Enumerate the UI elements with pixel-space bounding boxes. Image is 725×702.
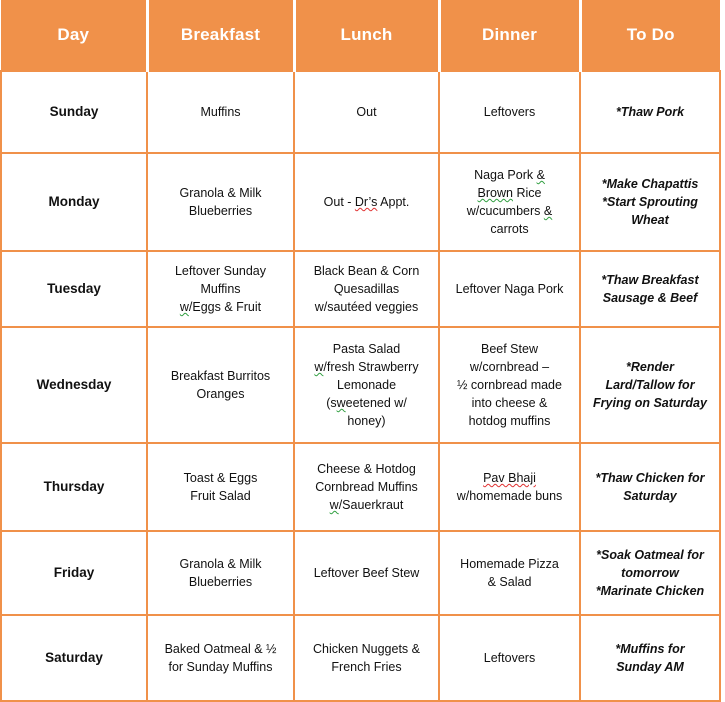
cell-text: Chicken Nuggets &French Fries bbox=[300, 640, 433, 676]
breakfast-cell: Granola & MilkBlueberries bbox=[147, 153, 294, 251]
cell-line: Blueberries bbox=[153, 573, 288, 591]
cell-text: Pav Bhajiw/homemade buns bbox=[445, 469, 574, 505]
todo-cell: *Thaw BreakfastSausage & Beef bbox=[580, 251, 720, 327]
spellcheck-underline: w bbox=[330, 498, 339, 512]
cell-line: Brown Rice bbox=[445, 184, 574, 202]
cell-text: Homemade Pizza& Salad bbox=[445, 555, 574, 591]
cell-text: *Thaw Chicken forSaturday bbox=[586, 469, 714, 505]
cell-line: Granola & Milk bbox=[153, 555, 288, 573]
cell-text: *RenderLard/Tallow forFrying on Saturday bbox=[586, 358, 714, 412]
day-cell-saturday: Saturday bbox=[1, 615, 147, 701]
dinner-cell: Leftovers bbox=[439, 71, 580, 153]
cell-line: Out bbox=[300, 103, 433, 121]
column-header-dinner: Dinner bbox=[439, 0, 580, 71]
cell-text: *Soak Oatmeal fortomorrow*Marinate Chick… bbox=[586, 546, 714, 600]
lunch-cell: Leftover Beef Stew bbox=[294, 531, 439, 615]
cell-line: Sausage & Beef bbox=[586, 289, 714, 307]
cell-line: Pasta Salad bbox=[300, 340, 433, 358]
table-row: WednesdayBreakfast BurritosOrangesPasta … bbox=[1, 327, 720, 443]
todo-cell: *Make Chapattis*Start SproutingWheat bbox=[580, 153, 720, 251]
cell-line: Quesadillas bbox=[300, 280, 433, 298]
cell-line: Leftover Beef Stew bbox=[300, 564, 433, 582]
lunch-cell: Black Bean & CornQuesadillasw/sautéed ve… bbox=[294, 251, 439, 327]
cell-line: honey) bbox=[300, 412, 433, 430]
cell-line: Black Bean & Corn bbox=[300, 262, 433, 280]
breakfast-cell: Toast & EggsFruit Salad bbox=[147, 443, 294, 531]
todo-cell: *Soak Oatmeal fortomorrow*Marinate Chick… bbox=[580, 531, 720, 615]
cell-line: *Soak Oatmeal for bbox=[586, 546, 714, 564]
cell-line: ½ cornbread made bbox=[445, 376, 574, 394]
cell-line: *Marinate Chicken bbox=[586, 582, 714, 600]
todo-cell: *Thaw Pork bbox=[580, 71, 720, 153]
cell-line: *Thaw Breakfast bbox=[586, 271, 714, 289]
cell-text: *Muffins forSunday AM bbox=[586, 640, 714, 676]
cell-line: Beef Stew bbox=[445, 340, 574, 358]
cell-line: w/Sauerkraut bbox=[300, 496, 433, 514]
cell-line: Leftovers bbox=[445, 649, 574, 667]
spellcheck-underline: Pav Bhaji bbox=[483, 471, 536, 485]
cell-line: *Start Sprouting bbox=[586, 193, 714, 211]
cell-line: Cheese & Hotdog bbox=[300, 460, 433, 478]
day-cell-friday: Friday bbox=[1, 531, 147, 615]
cell-text: Leftover SundayMuffinsw/Eggs & Fruit bbox=[153, 262, 288, 316]
cell-text: *Thaw Pork bbox=[586, 103, 714, 121]
cell-text: Breakfast BurritosOranges bbox=[153, 367, 288, 403]
meal-plan-table: DayBreakfastLunchDinnerTo Do SundayMuffi… bbox=[0, 0, 721, 702]
breakfast-cell: Granola & MilkBlueberries bbox=[147, 531, 294, 615]
spellcheck-underline: w bbox=[337, 396, 346, 410]
cell-line: into cheese & bbox=[445, 394, 574, 412]
cell-text: Baked Oatmeal & ½for Sunday Muffins bbox=[153, 640, 288, 676]
dinner-cell: Homemade Pizza& Salad bbox=[439, 531, 580, 615]
dinner-cell: Naga Pork &Brown Ricew/cucumbers &carrot… bbox=[439, 153, 580, 251]
table-header-row: DayBreakfastLunchDinnerTo Do bbox=[1, 0, 720, 71]
cell-line: Granola & Milk bbox=[153, 184, 288, 202]
cell-line: w/cornbread – bbox=[445, 358, 574, 376]
cell-line: Homemade Pizza bbox=[445, 555, 574, 573]
cell-line: Muffins bbox=[153, 280, 288, 298]
cell-line: Baked Oatmeal & ½ bbox=[153, 640, 288, 658]
todo-cell: *RenderLard/Tallow forFrying on Saturday bbox=[580, 327, 720, 443]
cell-line: Cornbread Muffins bbox=[300, 478, 433, 496]
cell-line: Sunday AM bbox=[586, 658, 714, 676]
cell-line: *Muffins for bbox=[586, 640, 714, 658]
cell-line: Fruit Salad bbox=[153, 487, 288, 505]
table-row: FridayGranola & MilkBlueberriesLeftover … bbox=[1, 531, 720, 615]
column-header-lunch: Lunch bbox=[294, 0, 439, 71]
cell-line: w/sautéed veggies bbox=[300, 298, 433, 316]
dinner-cell: Leftovers bbox=[439, 615, 580, 701]
cell-line: w/Eggs & Fruit bbox=[153, 298, 288, 316]
cell-text: *Thaw BreakfastSausage & Beef bbox=[586, 271, 714, 307]
dinner-cell: Beef Steww/cornbread –½ cornbread madein… bbox=[439, 327, 580, 443]
cell-text: Out - Dr’s Appt. bbox=[300, 193, 433, 211]
dinner-cell: Leftover Naga Pork bbox=[439, 251, 580, 327]
cell-line: Oranges bbox=[153, 385, 288, 403]
cell-line: tomorrow bbox=[586, 564, 714, 582]
todo-cell: *Thaw Chicken forSaturday bbox=[580, 443, 720, 531]
table-row: MondayGranola & MilkBlueberriesOut - Dr’… bbox=[1, 153, 720, 251]
cell-text: Leftover Beef Stew bbox=[300, 564, 433, 582]
cell-line: Naga Pork & bbox=[445, 166, 574, 184]
breakfast-cell: Baked Oatmeal & ½for Sunday Muffins bbox=[147, 615, 294, 701]
cell-text: Granola & MilkBlueberries bbox=[153, 555, 288, 591]
column-header-todo: To Do bbox=[580, 0, 720, 71]
lunch-cell: Cheese & HotdogCornbread Muffinsw/Sauerk… bbox=[294, 443, 439, 531]
cell-text: Leftover Naga Pork bbox=[445, 280, 574, 298]
breakfast-cell: Leftover SundayMuffinsw/Eggs & Fruit bbox=[147, 251, 294, 327]
cell-line: carrots bbox=[445, 220, 574, 238]
column-header-breakfast: Breakfast bbox=[147, 0, 294, 71]
lunch-cell: Chicken Nuggets &French Fries bbox=[294, 615, 439, 701]
cell-text: *Make Chapattis*Start SproutingWheat bbox=[586, 175, 714, 229]
cell-line: *Make Chapattis bbox=[586, 175, 714, 193]
cell-text: Toast & EggsFruit Salad bbox=[153, 469, 288, 505]
table-row: SaturdayBaked Oatmeal & ½for Sunday Muff… bbox=[1, 615, 720, 701]
lunch-cell: Out bbox=[294, 71, 439, 153]
cell-text: Leftovers bbox=[445, 649, 574, 667]
spellcheck-underline: & bbox=[537, 168, 545, 182]
cell-line: *Thaw Chicken for bbox=[586, 469, 714, 487]
cell-text: Cheese & HotdogCornbread Muffinsw/Sauerk… bbox=[300, 460, 433, 514]
breakfast-cell: Breakfast BurritosOranges bbox=[147, 327, 294, 443]
day-cell-wednesday: Wednesday bbox=[1, 327, 147, 443]
cell-line: Leftover Naga Pork bbox=[445, 280, 574, 298]
spellcheck-underline: Dr’s bbox=[355, 195, 377, 209]
cell-line: w/cucumbers & bbox=[445, 202, 574, 220]
cell-line: Blueberries bbox=[153, 202, 288, 220]
spellcheck-underline: w bbox=[180, 300, 189, 314]
table-row: ThursdayToast & EggsFruit SaladCheese & … bbox=[1, 443, 720, 531]
cell-line: Breakfast Burritos bbox=[153, 367, 288, 385]
lunch-cell: Out - Dr’s Appt. bbox=[294, 153, 439, 251]
cell-line: Wheat bbox=[586, 211, 714, 229]
cell-line: Pav Bhaji bbox=[445, 469, 574, 487]
cell-line: Toast & Eggs bbox=[153, 469, 288, 487]
cell-line: Muffins bbox=[153, 103, 288, 121]
table-row: TuesdayLeftover SundayMuffinsw/Eggs & Fr… bbox=[1, 251, 720, 327]
cell-line: Frying on Saturday bbox=[586, 394, 714, 412]
cell-line: w/homemade buns bbox=[445, 487, 574, 505]
cell-line: *Thaw Pork bbox=[586, 103, 714, 121]
cell-text: Beef Steww/cornbread –½ cornbread madein… bbox=[445, 340, 574, 431]
dinner-cell: Pav Bhajiw/homemade buns bbox=[439, 443, 580, 531]
day-cell-sunday: Sunday bbox=[1, 71, 147, 153]
column-header-day: Day bbox=[1, 0, 147, 71]
day-cell-thursday: Thursday bbox=[1, 443, 147, 531]
cell-line: Leftover Sunday bbox=[153, 262, 288, 280]
cell-line: Lemonade bbox=[300, 376, 433, 394]
cell-text: Black Bean & CornQuesadillasw/sautéed ve… bbox=[300, 262, 433, 316]
day-cell-tuesday: Tuesday bbox=[1, 251, 147, 327]
spellcheck-underline: & bbox=[544, 204, 552, 218]
lunch-cell: Pasta Saladw/fresh StrawberryLemonade(sw… bbox=[294, 327, 439, 443]
cell-text: Leftovers bbox=[445, 103, 574, 121]
breakfast-cell: Muffins bbox=[147, 71, 294, 153]
cell-text: Granola & MilkBlueberries bbox=[153, 184, 288, 220]
cell-line: w/fresh Strawberry bbox=[300, 358, 433, 376]
cell-line: (sweetened w/ bbox=[300, 394, 433, 412]
todo-cell: *Muffins forSunday AM bbox=[580, 615, 720, 701]
cell-text: Pasta Saladw/fresh StrawberryLemonade(sw… bbox=[300, 340, 433, 431]
cell-text: Naga Pork &Brown Ricew/cucumbers &carrot… bbox=[445, 166, 574, 239]
cell-line: Saturday bbox=[586, 487, 714, 505]
cell-line: for Sunday Muffins bbox=[153, 658, 288, 676]
spellcheck-underline: Brown bbox=[478, 186, 513, 200]
cell-text: Out bbox=[300, 103, 433, 121]
table-body: SundayMuffinsOutLeftovers*Thaw PorkMonda… bbox=[1, 71, 720, 701]
cell-line: Lard/Tallow for bbox=[586, 376, 714, 394]
day-cell-monday: Monday bbox=[1, 153, 147, 251]
cell-line: French Fries bbox=[300, 658, 433, 676]
cell-text: Muffins bbox=[153, 103, 288, 121]
cell-line: hotdog muffins bbox=[445, 412, 574, 430]
table-row: SundayMuffinsOutLeftovers*Thaw Pork bbox=[1, 71, 720, 153]
spellcheck-underline: w bbox=[314, 360, 323, 374]
cell-line: Chicken Nuggets & bbox=[300, 640, 433, 658]
cell-line: Out - Dr’s Appt. bbox=[300, 193, 433, 211]
cell-line: & Salad bbox=[445, 573, 574, 591]
cell-line: *Render bbox=[586, 358, 714, 376]
cell-line: Leftovers bbox=[445, 103, 574, 121]
